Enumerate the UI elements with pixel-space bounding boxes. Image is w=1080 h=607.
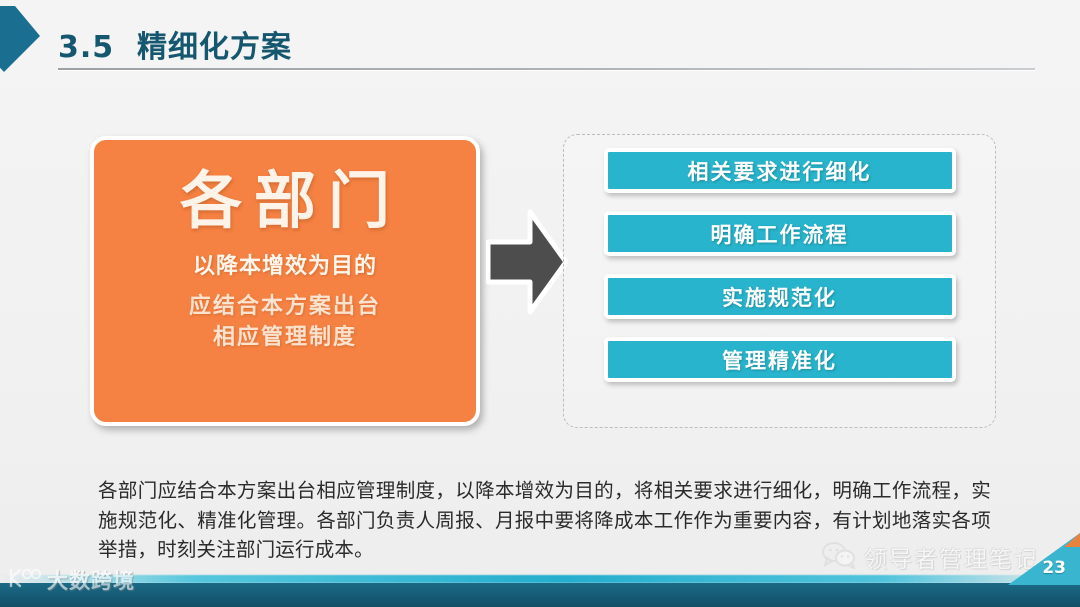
footer-glow-line <box>0 575 1080 583</box>
footer-bar <box>0 583 1080 607</box>
page-title-number: 3.5 <box>58 30 114 65</box>
department-panel: 各部门 以降本增效为目的 应结合本方案出台 相应管理制度 <box>90 136 480 426</box>
department-subtitle-action-line1: 应结合本方案出台 <box>189 291 381 323</box>
page-corner-decoration <box>994 533 1080 585</box>
department-subtitle-action-line2: 相应管理制度 <box>189 322 381 354</box>
title-divider <box>58 68 1035 70</box>
measure-item-2[interactable]: 明确工作流程 <box>604 211 956 256</box>
wechat-icon <box>822 541 856 573</box>
page-title: 3.5 精细化方案 <box>58 22 292 66</box>
department-subtitle-action: 应结合本方案出台 相应管理制度 <box>189 291 381 355</box>
brand-watermark-text: 大数跨境 <box>47 565 135 595</box>
measure-item-4[interactable]: 管理精准化 <box>604 337 956 382</box>
measures-group: 相关要求进行细化 明确工作流程 实施规范化 管理精准化 <box>563 134 996 428</box>
brand-logo-icon <box>8 567 42 593</box>
department-subtitle-purpose: 以降本增效为目的 <box>193 248 377 280</box>
measure-item-1[interactable]: 相关要求进行细化 <box>604 148 956 193</box>
page-number: 23 <box>1042 558 1066 578</box>
department-headline: 各部门 <box>168 162 402 240</box>
page-title-text: 精细化方案 <box>137 30 292 65</box>
right-arrow-icon <box>486 208 568 316</box>
brand-watermark: 大数跨境 <box>8 565 135 595</box>
slide-canvas: 3.5 精细化方案 各部门 以降本增效为目的 应结合本方案出台 相应管理制度 相… <box>0 0 1080 607</box>
measure-item-3[interactable]: 实施规范化 <box>604 274 956 319</box>
corner-chevron-decoration <box>0 6 66 102</box>
